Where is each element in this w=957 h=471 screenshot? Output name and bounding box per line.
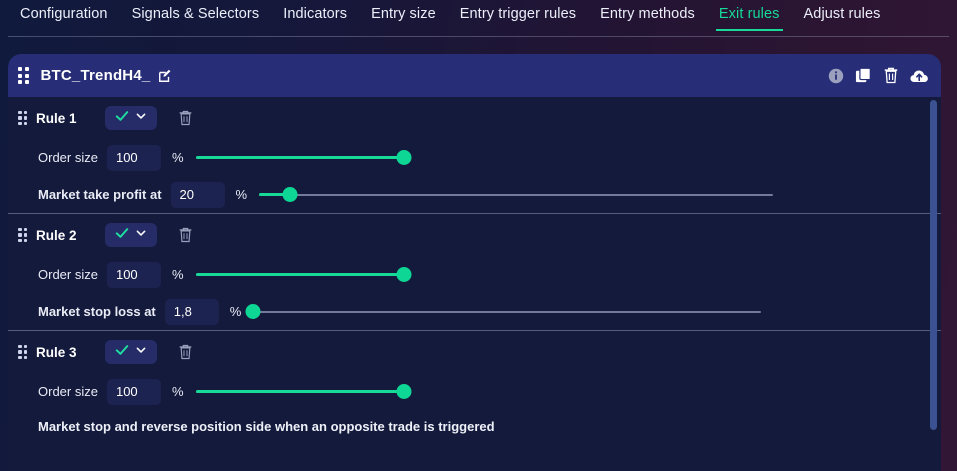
check-icon [115,109,129,123]
check-icon [115,343,129,362]
check-icon [115,226,129,240]
field-label: Order size [38,150,98,165]
vertical-scrollbar[interactable] [928,97,939,471]
field-slider[interactable] [196,384,404,400]
chevron-down-icon [135,344,147,356]
rule-title: Rule 3 [36,345,90,360]
trash-icon[interactable] [883,67,899,84]
rule-title: Rule 2 [36,228,90,243]
field-value-input[interactable] [107,379,161,405]
field-row: Market take profit at% [18,176,923,213]
field-label: Order size [38,384,98,399]
drag-dots-icon[interactable] [18,111,27,126]
delete-rule-button[interactable] [178,227,193,243]
slider-thumb[interactable] [396,267,411,282]
tab-exit-rules[interactable]: Exit rules [707,0,792,31]
tab-indicators[interactable]: Indicators [271,0,359,31]
slider-fill [196,156,404,158]
chevron-down-icon [135,227,147,239]
slider-track [259,194,773,196]
drag-dots-icon[interactable] [18,67,29,84]
rule-header: Rule 3 [18,331,923,373]
tab-bar: ConfigurationSignals & SelectorsIndicato… [0,0,957,37]
slider-track [253,311,761,313]
chevron-down-icon [135,343,147,361]
slider-thumb[interactable] [282,187,297,202]
card-header: BTC_TrendH4_ [8,54,941,97]
field-unit: % [172,150,184,165]
field-slider[interactable] [259,187,773,203]
info-icon[interactable] [828,68,844,84]
chevron-down-icon [135,109,147,127]
rule-header: Rule 2 [18,214,923,256]
card-title: BTC_TrendH4_ [41,67,151,84]
check-icon [115,109,129,128]
field-slider[interactable] [196,267,404,283]
trash-icon [178,227,193,243]
chevron-down-icon [135,110,147,122]
rule-enabled-dropdown[interactable] [105,106,157,130]
field-slider[interactable] [253,304,761,320]
drag-dots-icon[interactable] [18,345,27,360]
field-value-input[interactable] [165,299,219,325]
field-label: Market take profit at [38,187,162,202]
tab-signals-selectors[interactable]: Signals & Selectors [120,0,272,31]
rule-note: Market stop and reverse position side wh… [18,410,923,434]
field-value-input[interactable] [107,262,161,288]
trash-icon [178,344,193,360]
slider-fill [196,273,404,275]
tab-adjust-rules[interactable]: Adjust rules [792,0,893,31]
slider-thumb[interactable] [396,384,411,399]
tab-entry-size[interactable]: Entry size [359,0,448,31]
field-unit: % [230,304,242,319]
rule-block: Rule 3Order size%Market stop and reverse… [8,330,941,434]
field-slider[interactable] [196,150,404,166]
tab-entry-trigger-rules[interactable]: Entry trigger rules [448,0,588,31]
duplicate-icon[interactable] [855,67,872,84]
field-unit: % [236,187,248,202]
field-value-input[interactable] [107,145,161,171]
field-row: Market stop loss at% [18,293,923,330]
card-header-actions [828,67,929,84]
slider-thumb[interactable] [246,304,261,319]
strategy-card: BTC_TrendH4_ [8,54,941,471]
slider-thumb[interactable] [396,150,411,165]
tab-configuration[interactable]: Configuration [8,0,120,31]
edit-pencil-icon[interactable] [158,69,172,83]
cloud-upload-icon[interactable] [910,68,929,84]
delete-rule-button[interactable] [178,110,193,126]
scrollbar-thumb[interactable] [930,100,937,430]
delete-rule-button[interactable] [178,344,193,360]
field-row: Order size% [18,139,923,176]
field-row: Order size% [18,373,923,410]
field-row: Order size% [18,256,923,293]
rule-block: Rule 1Order size%Market take profit at% [8,97,941,213]
rule-block: Rule 2Order size%Market stop loss at% [8,213,941,330]
tab-entry-methods[interactable]: Entry methods [588,0,707,31]
rules-list: Rule 1Order size%Market take profit at%R… [8,97,941,471]
field-label: Market stop loss at [38,304,156,319]
field-value-input[interactable] [171,182,225,208]
rule-enabled-dropdown[interactable] [105,340,157,364]
field-label: Order size [38,267,98,282]
rule-header: Rule 1 [18,97,923,139]
slider-fill [196,390,404,392]
check-icon [115,226,129,245]
rule-enabled-dropdown[interactable] [105,223,157,247]
field-unit: % [172,267,184,282]
check-icon [115,343,129,357]
drag-dots-icon[interactable] [18,228,27,243]
rule-title: Rule 1 [36,111,90,126]
chevron-down-icon [135,226,147,244]
trash-icon [178,110,193,126]
field-unit: % [172,384,184,399]
